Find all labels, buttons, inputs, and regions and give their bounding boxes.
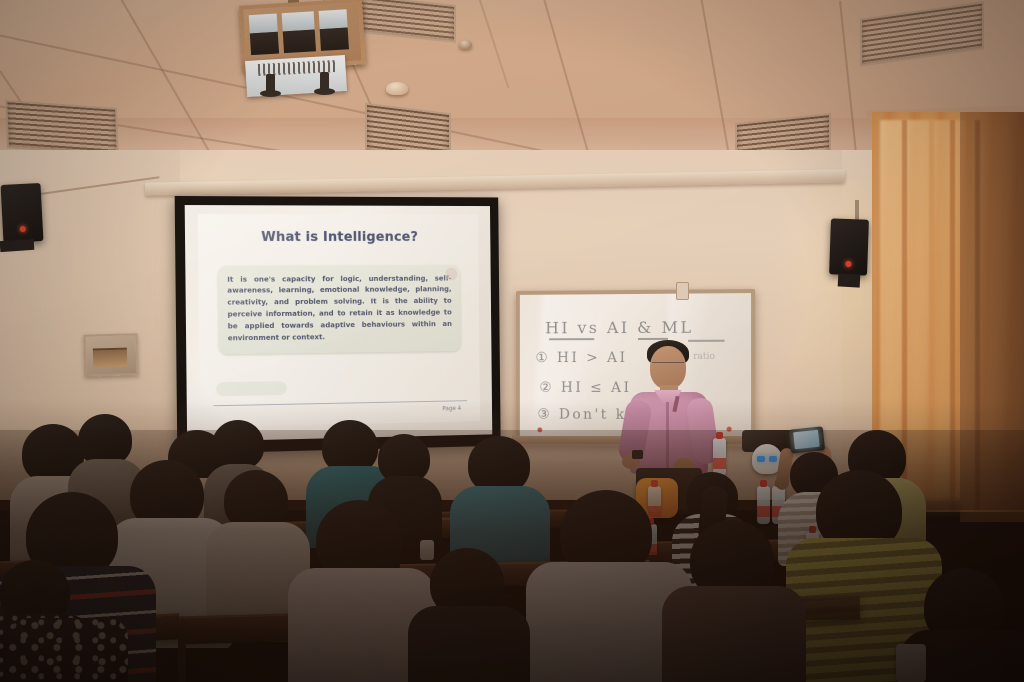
desk-leg: [178, 636, 186, 682]
robot-eye-icon: [757, 456, 765, 462]
attendee: [0, 560, 70, 626]
attendee: [430, 548, 504, 618]
robot-eye-icon: [769, 456, 777, 462]
attendee-floral-garment: [8, 618, 128, 682]
wall-speaker-right: [829, 218, 869, 275]
slide-callout-tail: [217, 381, 287, 396]
attendee: [78, 414, 132, 466]
presentation-slide: What is Intelligence? It is one's capaci…: [197, 215, 480, 428]
projector-window: [319, 9, 349, 51]
attendee: [378, 434, 430, 484]
attendee-head: [212, 420, 264, 470]
speaker-bracket: [0, 239, 34, 252]
projector-window: [282, 11, 316, 53]
attendee: [224, 470, 288, 532]
attendee: [322, 420, 378, 474]
attendee: [212, 420, 264, 470]
attendee: [130, 460, 204, 530]
smoke-detector-icon: [386, 82, 408, 95]
digital-camera: [789, 426, 825, 453]
attendee-body: [408, 606, 530, 682]
water-bottle: [757, 486, 770, 524]
projector-mount-arm: [320, 72, 329, 92]
wall-speaker-left: [1, 183, 44, 243]
whiteboard-heading: HI vs AI & ML: [545, 318, 693, 338]
speaker-bracket: [838, 273, 861, 287]
paper-cup: [420, 540, 434, 560]
attendee: [468, 436, 530, 494]
lecture-room-photo: What is Intelligence? It is one's capaci…: [0, 0, 1024, 682]
attendee: [560, 490, 652, 578]
attendee: [690, 520, 774, 600]
slide-body-box: It is one's capacity for logic, understa…: [218, 265, 460, 354]
attendee-body: [662, 586, 806, 682]
projector-window: [249, 14, 279, 56]
speaker-led-icon: [20, 226, 26, 232]
water-bottle: [648, 486, 661, 512]
smoke-detector-icon: [459, 40, 472, 49]
attendee: [316, 500, 402, 582]
paper-cup: [896, 644, 926, 682]
presenter-glasses-icon: [652, 362, 684, 370]
wall-panel: [83, 333, 138, 376]
speaker-led-icon: [845, 261, 851, 267]
projector-mount-arm: [266, 74, 275, 94]
light-switch-icon: [676, 282, 689, 300]
attendee: [816, 470, 902, 552]
whiteboard-line-1: ① HI > AI: [535, 350, 627, 366]
camera-screen-icon: [793, 430, 820, 450]
attendee: [924, 568, 1004, 646]
slide-body-text: It is one's capacity for logic, understa…: [227, 272, 452, 343]
ceiling-vent-icon: [5, 100, 119, 156]
bubble-notch-icon: [445, 268, 457, 281]
whiteboard-underline: [549, 338, 594, 340]
slide-title: What is Intelligence?: [198, 229, 479, 245]
water-bottle: [713, 438, 726, 476]
